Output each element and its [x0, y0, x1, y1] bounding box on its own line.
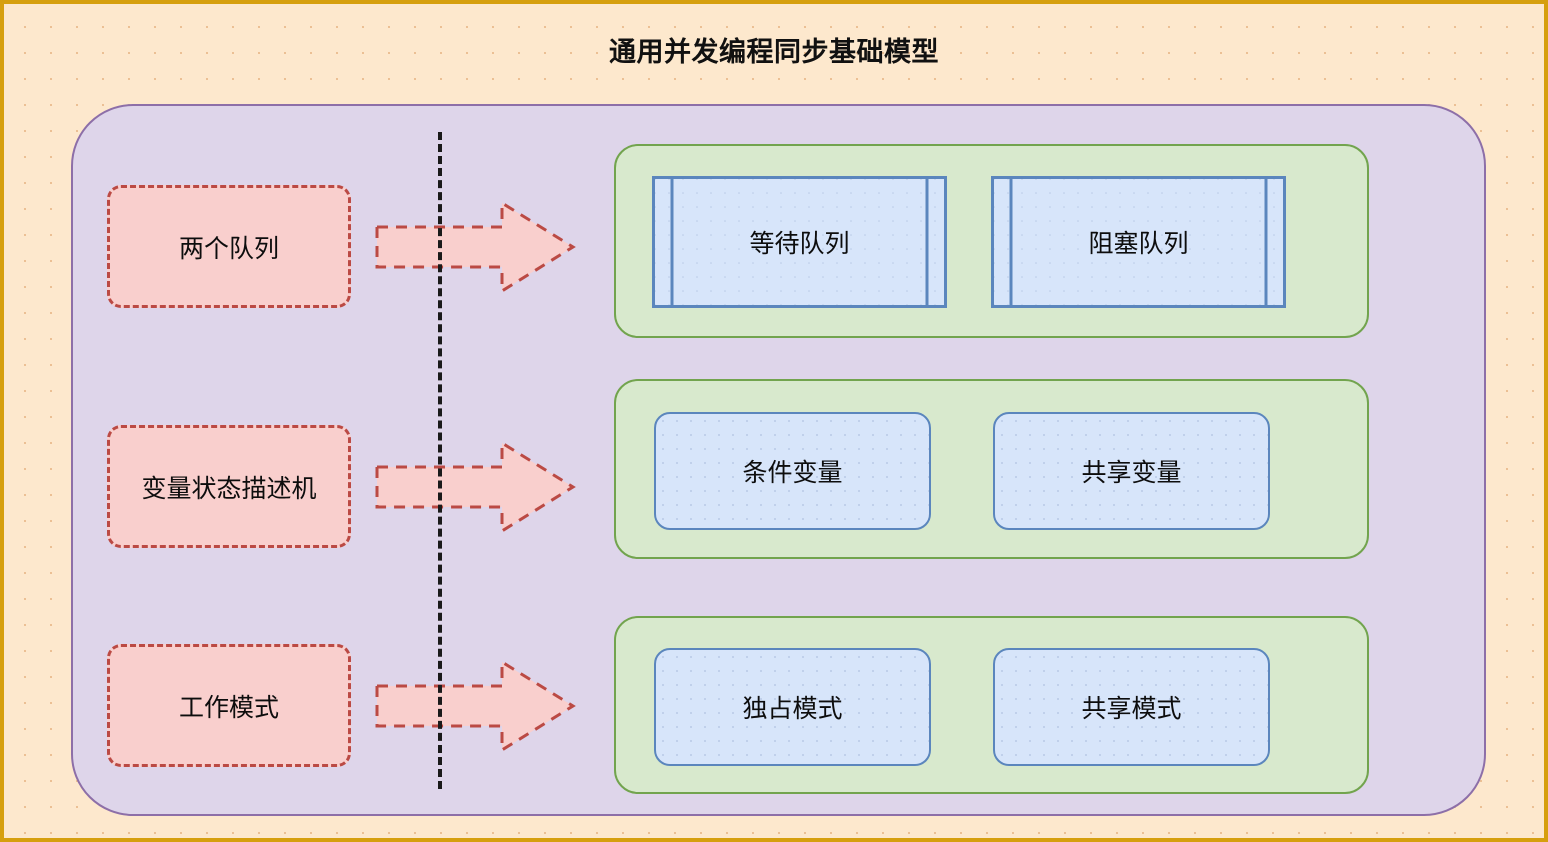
category-box-work-mode[interactable]: 工作模式 [107, 644, 351, 767]
queue-shape-blocking-queue[interactable]: 阻塞队列 [991, 176, 1286, 308]
category-label: 工作模式 [179, 688, 279, 724]
phase-divider-line [438, 132, 442, 789]
item-box-exclusive-mode[interactable]: 独占模式 [654, 648, 931, 766]
queue-shape-wait-queue[interactable]: 等待队列 [652, 176, 947, 308]
category-label: 两个队列 [179, 229, 279, 265]
item-box-condition-variable[interactable]: 条件变量 [654, 412, 931, 530]
arrow-right-block-icon [374, 197, 576, 297]
group-work-mode: 独占模式 共享模式 [614, 616, 1369, 794]
category-box-variable-state-machine[interactable]: 变量状态描述机 [107, 425, 351, 548]
group-variable-state-machine: 条件变量 共享变量 [614, 379, 1369, 559]
category-label: 变量状态描述机 [141, 469, 316, 505]
item-label: 共享模式 [1081, 689, 1181, 725]
group-two-queues: 等待队列 阻塞队列 [614, 144, 1369, 338]
item-box-shared-variable[interactable]: 共享变量 [993, 412, 1270, 530]
page-title: 通用并发编程同步基础模型 [4, 30, 1544, 69]
diagram-canvas: 通用并发编程同步基础模型 两个队列 变量状态描述机 工作模式 [0, 0, 1548, 842]
item-box-shared-mode[interactable]: 共享模式 [993, 648, 1270, 766]
item-label: 条件变量 [742, 453, 842, 489]
category-box-two-queues[interactable]: 两个队列 [107, 185, 351, 308]
item-label: 独占模式 [742, 689, 842, 725]
item-label: 共享变量 [1081, 453, 1181, 489]
arrow-right-block-icon [374, 656, 576, 756]
arrow-right-block-icon [374, 437, 576, 537]
